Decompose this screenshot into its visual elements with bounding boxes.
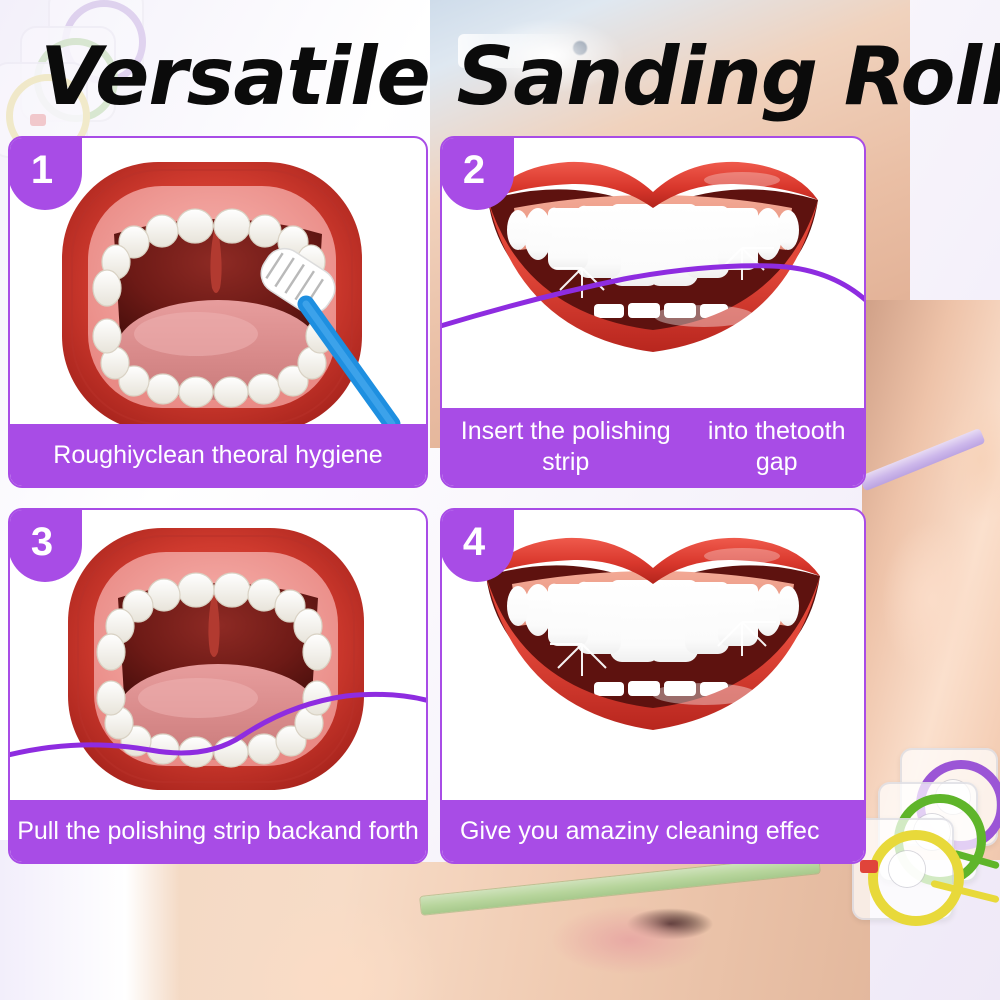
infographic-stage: Versatile Sanding Rolls — [0, 0, 1000, 1000]
step-card-4: 4 Give you amaziny cleaning effec — [440, 508, 866, 864]
step-number-badge-1: 1 — [8, 136, 82, 210]
step-caption-2-text-line2: into thetooth gap — [689, 416, 864, 478]
step-caption-2: Insert the polishing strip into thetooth… — [442, 408, 864, 486]
step-caption-2-text: Insert the polishing strip — [442, 416, 689, 478]
step-card-1: 1 Roughiyclean theoral hygiene — [8, 136, 428, 488]
background-left-fade — [0, 840, 180, 1000]
step-card-3: 3 Pull the polishing strip backand forth — [8, 508, 428, 864]
background-bottom-photo — [110, 862, 870, 1000]
step-caption-4: Give you amaziny cleaning effec — [442, 800, 864, 862]
step-number-badge-4: 4 — [440, 508, 514, 582]
step-card-2: 2 Insert the polishing strip into thetoo… — [440, 136, 866, 488]
step-caption-3: Pull the polishing strip backand forth — [10, 800, 426, 862]
page-title: Versatile Sanding Rolls — [40, 28, 960, 126]
step-number-badge-2: 2 — [440, 136, 514, 210]
step-caption-1: Roughiyclean theoral hygiene — [10, 424, 426, 486]
step-number-badge-3: 3 — [8, 508, 82, 582]
dispenser-core-yellow — [889, 851, 925, 887]
